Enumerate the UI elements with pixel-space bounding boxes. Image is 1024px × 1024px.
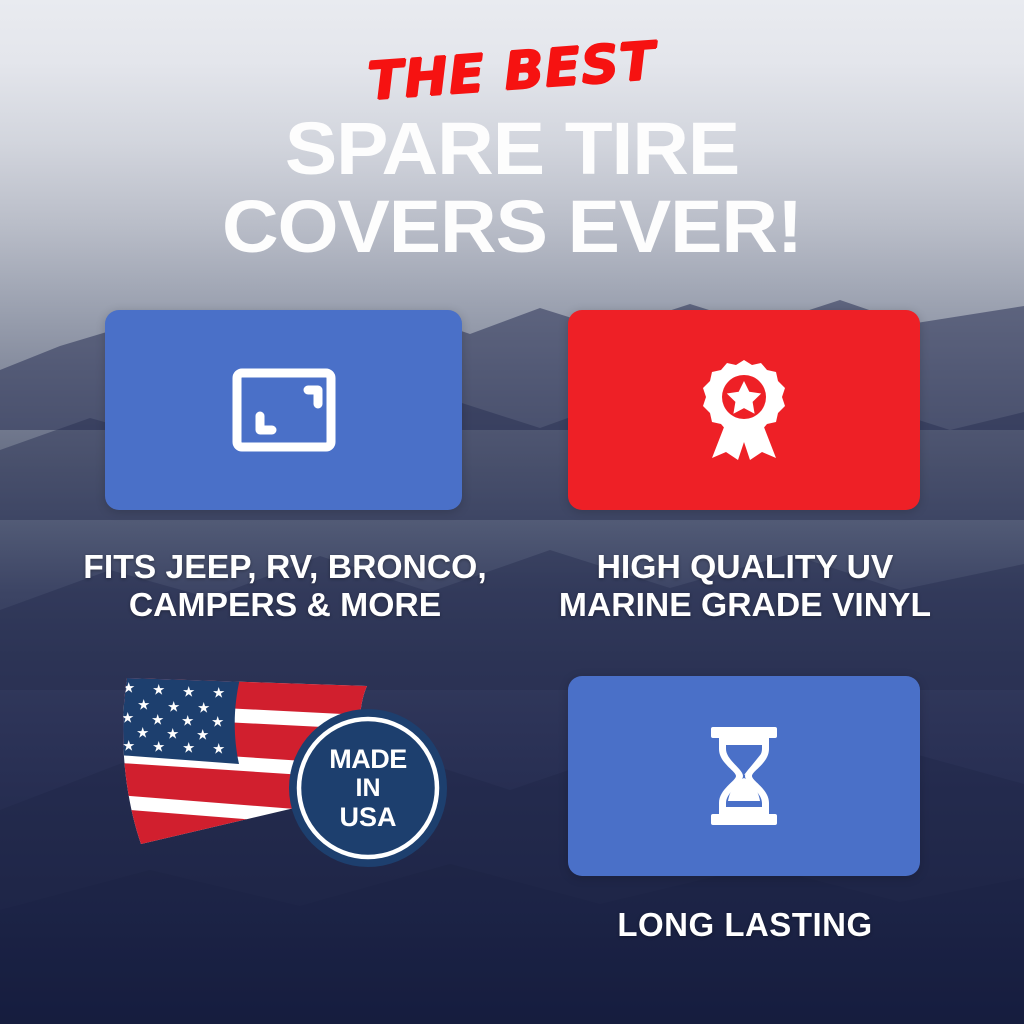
headline-line-1: SPARE TIRE (0, 112, 1024, 186)
made-in-usa-badge (288, 708, 448, 868)
fit-frame-icon (232, 368, 336, 452)
hourglass-icon (709, 727, 779, 825)
caption-line-2: CAMPERS & MORE (56, 586, 515, 624)
feature-caption-long-lasting: LONG LASTING (545, 906, 945, 944)
headline-line-2: COVERS EVER! (0, 190, 1024, 264)
caption-line-1: HIGH QUALITY UV (541, 548, 949, 586)
feature-card-long-lasting[interactable] (568, 676, 920, 876)
feature-caption-fits: FITS JEEP, RV, BRONCO, CAMPERS & MORE (56, 548, 515, 625)
promo-graphic: THE BEST SPARE TIRE COVERS EVER! FITS JE… (0, 0, 1024, 1024)
caption-line-1: LONG LASTING (545, 906, 945, 944)
feature-caption-vinyl: HIGH QUALITY UV MARINE GRADE VINYL (541, 548, 949, 625)
award-ribbon-icon (696, 358, 792, 462)
caption-line-1: FITS JEEP, RV, BRONCO, (56, 548, 515, 586)
caption-line-2: MARINE GRADE VINYL (541, 586, 949, 624)
feature-card-fits[interactable] (105, 310, 462, 510)
feature-card-vinyl[interactable] (568, 310, 920, 510)
feature-made-in-usa[interactable]: MADE IN USA (105, 672, 465, 882)
